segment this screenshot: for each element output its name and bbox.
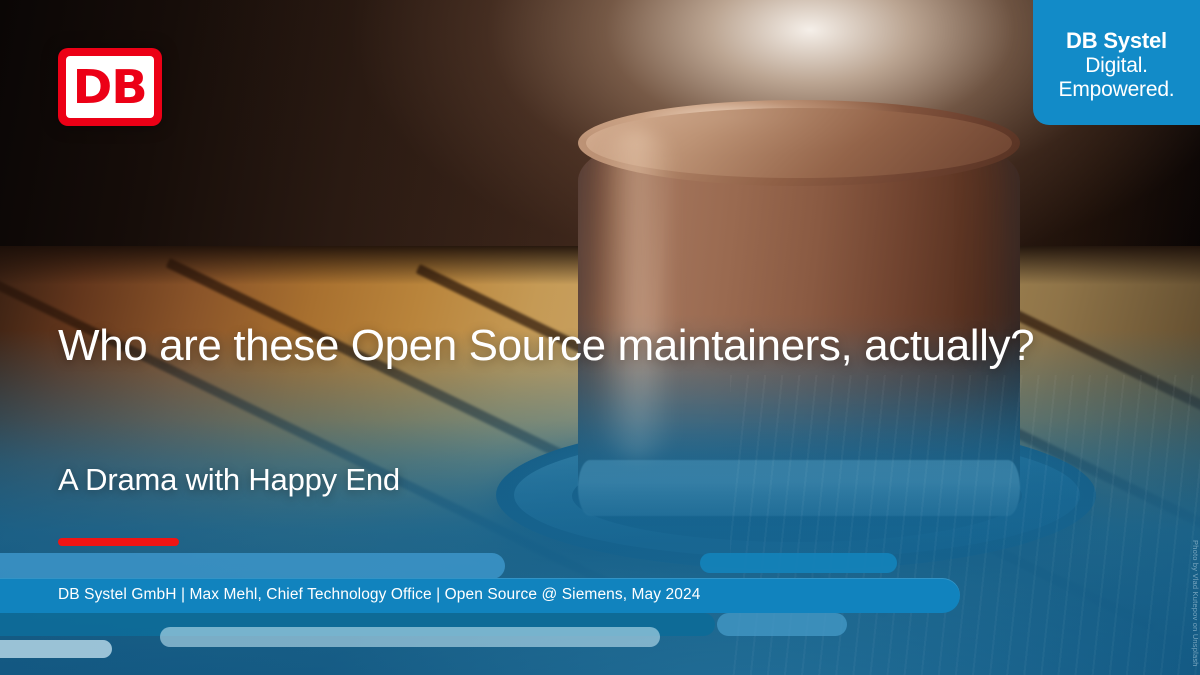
- db-systel-claim-line-1: Digital.: [1085, 54, 1148, 78]
- db-logo: DB: [58, 48, 162, 126]
- slide-subtitle: A Drama with Happy End: [58, 461, 400, 498]
- db-systel-badge: DB Systel Digital. Empowered.: [1033, 0, 1200, 125]
- db-logo-label: DB: [73, 64, 147, 110]
- decorative-bar-pale-long: [160, 627, 660, 647]
- db-systel-claim-line-2: Empowered.: [1059, 78, 1175, 102]
- decorative-bar-upper-left: [0, 553, 505, 579]
- db-logo-inner-field: DB: [66, 56, 154, 118]
- presentation-slide: DB DB Systel Digital. Empowered. Who are…: [0, 0, 1200, 675]
- decorative-bar-pale-short: [0, 640, 112, 658]
- red-accent-rule: [58, 538, 179, 546]
- footer-caption: DB Systel GmbH | Max Mehl, Chief Technol…: [58, 586, 700, 604]
- slide-title: Who are these Open Source maintainers, a…: [58, 320, 1088, 372]
- decorative-bar-upper-right: [700, 553, 897, 573]
- photo-credit: Photo by Vlad Kutepov on Unsplash: [1192, 540, 1200, 667]
- decorative-bar-lower-right: [717, 613, 847, 636]
- db-systel-name: DB Systel: [1066, 28, 1167, 54]
